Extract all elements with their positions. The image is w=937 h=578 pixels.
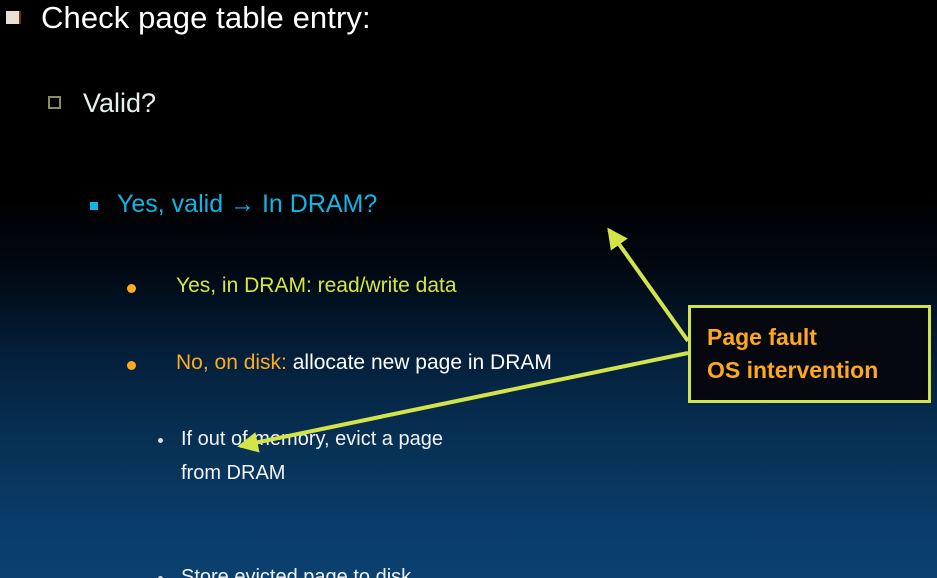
list-item: If out of memory, evict a page from DRAM bbox=[0, 194, 937, 256]
list-item: Check page table entry: bbox=[0, 0, 937, 42]
outline-text: Check page table entry: bbox=[41, 0, 371, 36]
callout-line-2: OS intervention bbox=[707, 354, 928, 387]
list-item: Read/write data bbox=[0, 468, 937, 502]
outline-list: Check page table entry: Valid? Yes, vali… bbox=[0, 0, 937, 502]
slide-canvas: Check page table entry: Valid? Yes, vali… bbox=[0, 0, 937, 578]
list-item: Yes, valid → In DRAM? bbox=[0, 82, 937, 122]
page-fault-callout-box: Page fault OS intervention bbox=[688, 305, 931, 403]
list-item: Store evicted page to disk bbox=[0, 256, 937, 290]
list-item: Yes, in DRAM: read/write data bbox=[0, 122, 937, 158]
callout-line-1: Page fault bbox=[707, 321, 928, 354]
filled-square-bullet-icon bbox=[6, 11, 21, 24]
list-item: If out of memory, evict a page bbox=[0, 434, 937, 468]
list-item: No, on disk: allocate new page in DRAM bbox=[0, 158, 937, 194]
list-item: allocate new page in DRAM bbox=[0, 398, 937, 434]
outline-text: Store evicted page to disk bbox=[181, 566, 411, 578]
list-item: Valid? bbox=[0, 42, 937, 82]
